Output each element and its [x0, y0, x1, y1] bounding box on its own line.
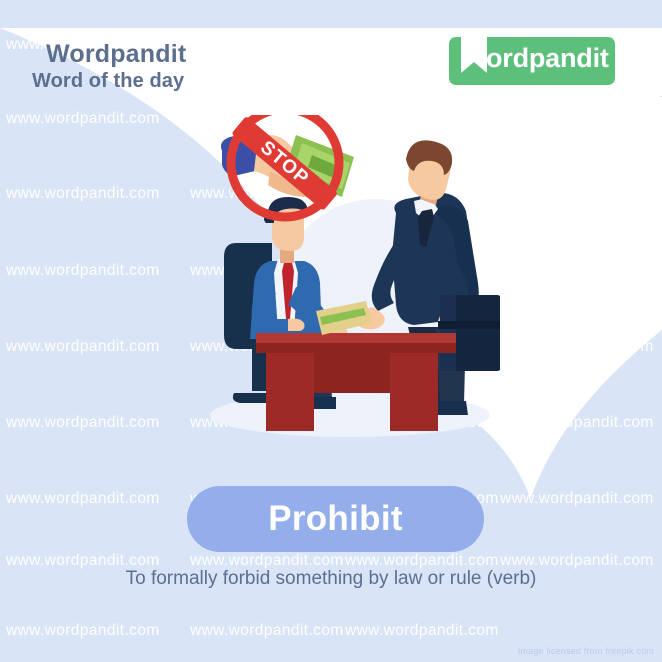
page-subtitle: Word of the day: [32, 70, 184, 93]
bribery-prohibited-illustration: STOP: [200, 115, 500, 445]
word-pill: Prohibit: [187, 486, 484, 552]
word-of-the-day-card: www.wordpandit.com www.wordpandit.com ww…: [0, 0, 662, 662]
wordpandit-logo[interactable]: ordpandit: [449, 37, 615, 85]
word-term: Prohibit: [268, 499, 403, 539]
word-definition: To formally forbid something by law or r…: [0, 568, 662, 590]
bookmark-icon: [461, 31, 487, 73]
image-credit: Image licensed from freepik.com: [518, 646, 654, 656]
logo-text: ordpandit: [486, 43, 609, 74]
page-title: Wordpandit: [46, 40, 186, 69]
